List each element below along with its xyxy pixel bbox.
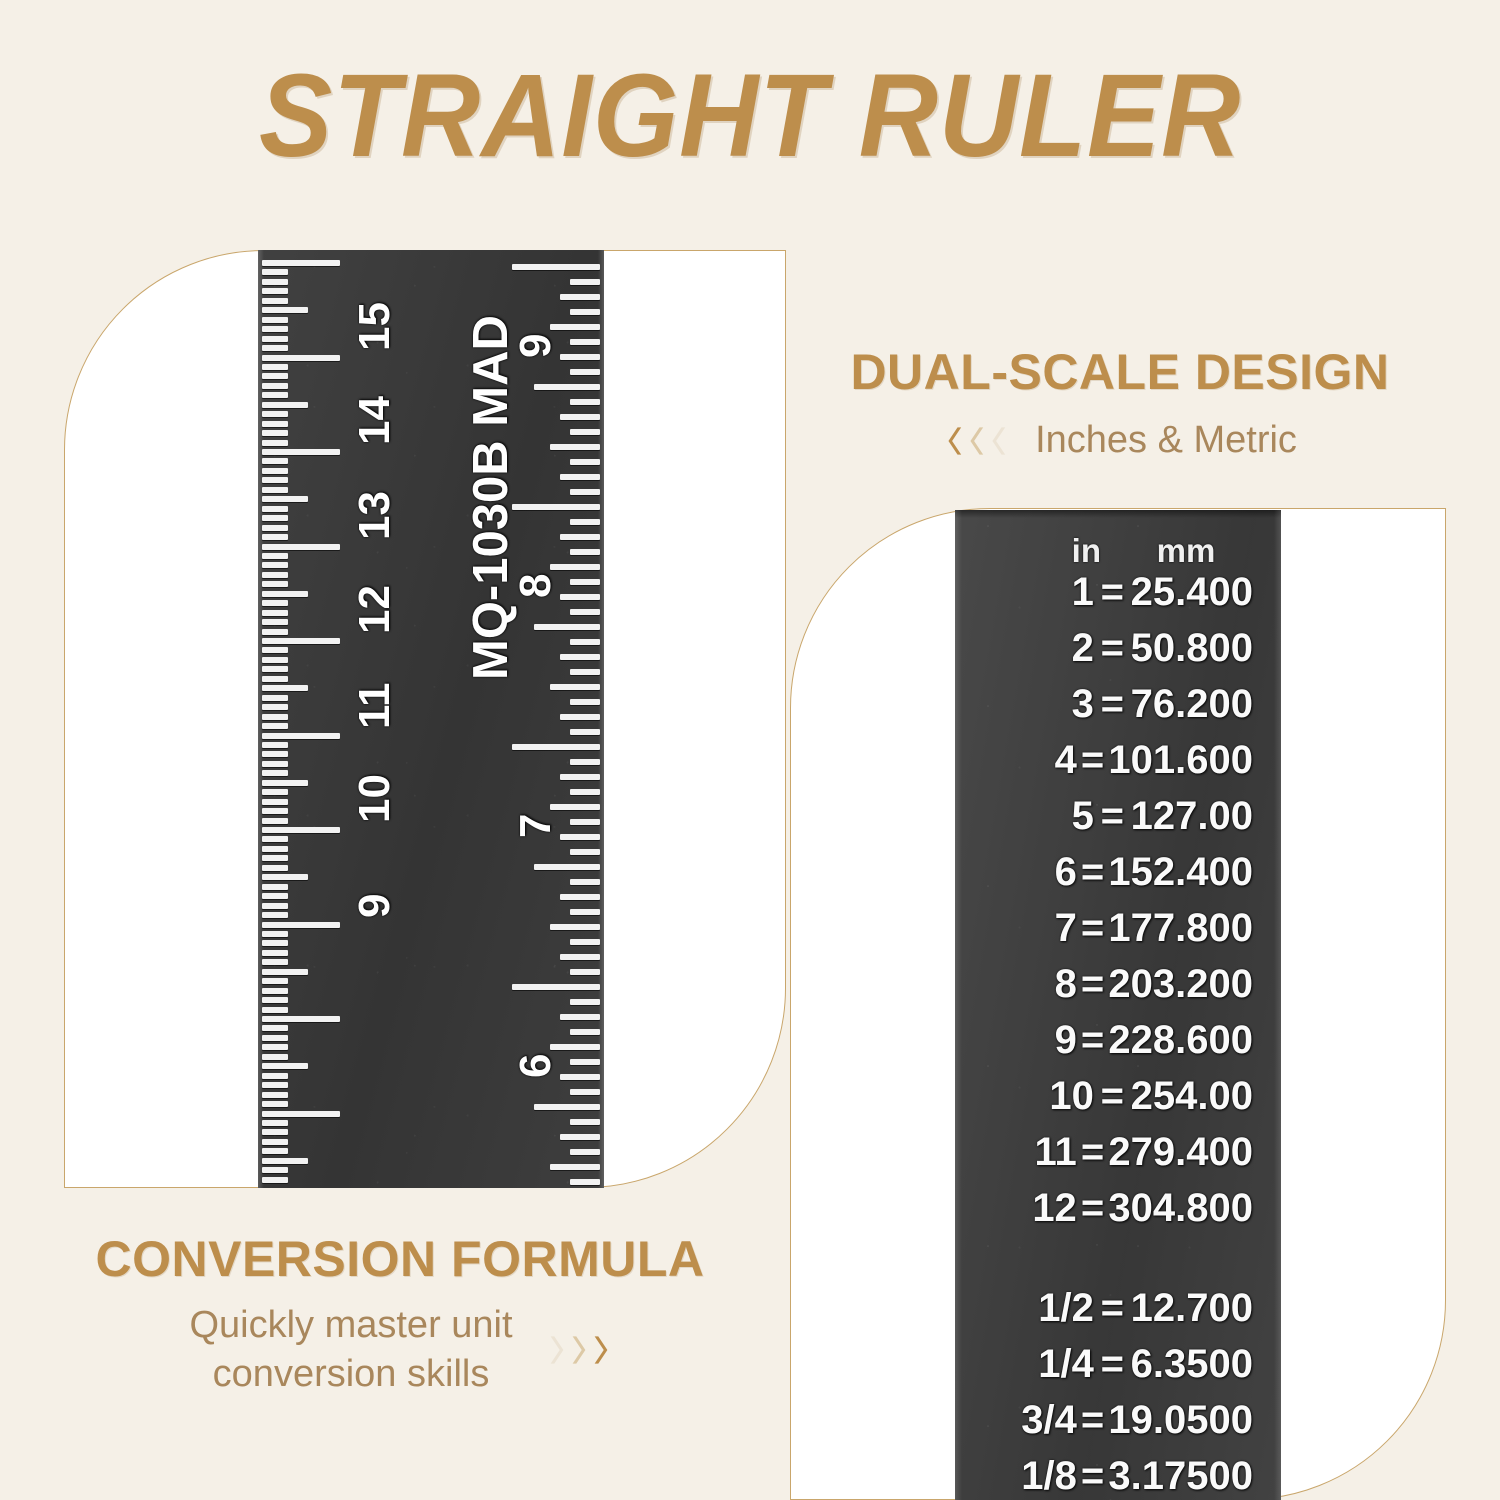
ruler-tick-metric — [262, 733, 340, 739]
table-section-divider — [955, 1242, 1281, 1286]
ruler-tick-inch — [570, 1059, 600, 1065]
table-row: 6=152.400 — [955, 850, 1281, 906]
ruler-tick-inch — [534, 1104, 600, 1110]
ruler-tick-inch — [560, 834, 600, 840]
cell-inches: 1 — [973, 570, 1094, 615]
ruler-tick-inch — [570, 729, 600, 735]
ruler-tick-inch — [570, 309, 600, 315]
ruler-tick-metric — [262, 865, 288, 871]
ruler-tick-inch — [570, 549, 600, 555]
ruler-tick-inch — [560, 594, 600, 600]
ruler-tick-metric — [262, 326, 288, 332]
page-title: STRAIGHT RULER — [259, 55, 1241, 179]
ruler-tick-metric — [262, 553, 288, 559]
ruler-tick-inch — [560, 1014, 600, 1020]
ruler-tick-inch — [550, 684, 600, 690]
ruler-tick-inch — [570, 489, 600, 495]
ruler-tick-metric — [262, 411, 288, 417]
ruler-tick-metric — [262, 704, 288, 710]
table-row: 3/4=19.0500 — [955, 1398, 1281, 1454]
cell-millimeters: 152.400 — [1108, 850, 1271, 895]
cell-inches: 12 — [973, 1186, 1077, 1231]
ruler-tick-inch — [550, 324, 600, 330]
cell-inches: 5 — [973, 794, 1094, 839]
ruler-tick-metric — [262, 1148, 288, 1154]
cell-inches: 3/4 — [973, 1398, 1077, 1443]
ruler-tick-metric — [262, 893, 288, 899]
ruler-tick-metric — [262, 525, 288, 531]
cell-inches: 8 — [973, 962, 1077, 1007]
ruler-tick-inch — [570, 579, 600, 585]
cell-equals: = — [1094, 682, 1131, 727]
ruler-tick-metric — [262, 789, 288, 795]
ruler-tick-metric — [262, 1073, 288, 1079]
ruler-tick-metric — [262, 695, 288, 701]
cell-equals: = — [1094, 1074, 1131, 1119]
ruler-tick-metric — [262, 940, 288, 946]
ruler-tick-inch — [512, 264, 600, 270]
cell-millimeters: 19.0500 — [1108, 1398, 1271, 1443]
ruler-tick-inch — [570, 399, 600, 405]
ruler-tick-metric — [262, 969, 308, 975]
ruler-illustration: 15141312111099876MQ-1030B MAD — [258, 250, 604, 1188]
ruler-tick-metric — [262, 818, 288, 824]
dual-scale-subtitle: Inches & Metric — [1035, 416, 1297, 465]
ruler-tick-metric — [262, 1007, 288, 1013]
cell-equals: = — [1094, 1342, 1131, 1387]
ruler-tick-metric — [262, 373, 288, 379]
cell-inches: 1/8 — [973, 1454, 1077, 1499]
table-row: 12=304.800 — [955, 1186, 1281, 1242]
ruler-tick-inch — [560, 414, 600, 420]
ruler-tick-inch — [570, 1119, 600, 1125]
ruler-tick-inch — [570, 849, 600, 855]
ruler-tick-metric — [262, 544, 340, 550]
conversion-whole-rows: 1=25.4002=50.8003=76.2004=101.6005=127.0… — [955, 570, 1281, 1242]
ruler-tick-metric — [262, 846, 288, 852]
ruler-tick-metric — [262, 959, 288, 965]
ruler-tick-metric — [262, 1016, 340, 1022]
ruler-tick-metric — [262, 723, 288, 729]
cell-inches: 10 — [973, 1074, 1094, 1119]
chevron-left-icon — [987, 424, 1007, 458]
ruler-tick-metric — [262, 647, 288, 653]
feature-dual-scale: DUAL-SCALE DESIGN Inches & Metric — [800, 345, 1440, 465]
ruler-tick-metric — [262, 997, 288, 1003]
ruler-tick-metric — [262, 619, 288, 625]
ruler-tick-inch — [560, 894, 600, 900]
chevron-right-icon — [547, 1333, 567, 1367]
ruler-tick-metric — [262, 751, 288, 757]
ruler-number-metric: 13 — [350, 491, 400, 540]
ruler-tick-metric — [262, 515, 288, 521]
ruler-tick-inch — [512, 504, 600, 510]
ruler-tick-inch — [534, 864, 600, 870]
ruler-tick-inch — [570, 789, 600, 795]
ruler-tick-metric — [262, 392, 288, 398]
cell-millimeters: 177.800 — [1108, 906, 1271, 951]
ruler-tick-metric — [262, 978, 288, 984]
cell-equals: = — [1077, 1186, 1109, 1231]
conversion-table: in mm 1=25.4002=50.8003=76.2004=101.6005… — [955, 510, 1281, 1500]
ruler-tick-metric — [262, 279, 288, 285]
ruler-tick-metric — [262, 1101, 288, 1107]
ruler-tick-metric — [262, 827, 340, 833]
ruler-tick-metric — [262, 799, 288, 805]
ruler-tick-inch — [570, 969, 600, 975]
ruler-tick-metric — [262, 345, 288, 351]
ruler-tick-metric — [262, 449, 340, 455]
table-row: 1/4=6.3500 — [955, 1342, 1281, 1398]
ruler-tick-metric — [262, 317, 288, 323]
ruler-tick-inch — [570, 819, 600, 825]
cell-inches: 4 — [973, 738, 1077, 783]
ruler-tick-metric — [262, 988, 288, 994]
ruler-number-inch: 6 — [511, 1054, 561, 1078]
cell-equals: = — [1094, 1286, 1131, 1331]
cell-inches: 1/4 — [973, 1342, 1094, 1387]
ruler-tick-inch — [560, 654, 600, 660]
table-row: 1=25.400 — [955, 570, 1281, 626]
ruler-tick-inch — [570, 519, 600, 525]
ruler-tick-metric — [262, 269, 288, 275]
ruler-tick-metric — [262, 506, 288, 512]
cell-millimeters: 127.00 — [1131, 794, 1271, 839]
ruler-tick-metric — [262, 912, 288, 918]
cell-millimeters: 50.800 — [1131, 626, 1271, 671]
column-header-in: in — [977, 532, 1109, 570]
ruler-tick-inch — [550, 804, 600, 810]
ruler-tick-metric — [262, 1092, 288, 1098]
ruler-tick-metric — [262, 288, 288, 294]
ruler-tick-metric — [262, 714, 288, 720]
conversion-fraction-rows: 1/2=12.7001/4=6.35003/4=19.05001/8=3.175… — [955, 1286, 1281, 1500]
ruler-tick-metric — [262, 903, 288, 909]
cell-equals: = — [1077, 1130, 1109, 1175]
cell-equals: = — [1077, 962, 1109, 1007]
cell-millimeters: 6.3500 — [1131, 1342, 1271, 1387]
cell-inches: 6 — [973, 850, 1077, 895]
ruler-tick-inch — [570, 279, 600, 285]
ruler-tick-inch — [534, 624, 600, 630]
chevron-right-icon — [591, 1333, 611, 1367]
cell-equals: = — [1077, 1454, 1109, 1499]
column-header-mm: mm — [1109, 532, 1263, 570]
chevron-left-icon-group — [943, 424, 1007, 458]
ruler-tick-inch — [560, 714, 600, 720]
ruler-tick-metric — [262, 487, 288, 493]
ruler-tick-metric — [262, 950, 288, 956]
ruler-tick-inch — [560, 1134, 600, 1140]
ruler-tick-metric — [262, 610, 288, 616]
cell-millimeters: 76.200 — [1131, 682, 1271, 727]
ruler-tick-metric — [262, 676, 288, 682]
ruler-tick-metric — [262, 430, 288, 436]
ruler-tick-metric — [262, 477, 288, 483]
ruler-tick-inch — [570, 609, 600, 615]
chevron-right-icon-group — [547, 1333, 611, 1367]
ruler-tick-inch — [570, 459, 600, 465]
ruler-tick-metric — [262, 591, 308, 597]
cell-equals: = — [1094, 794, 1131, 839]
table-row: 5=127.00 — [955, 794, 1281, 850]
ruler-tick-inch — [570, 999, 600, 1005]
cell-inches: 2 — [973, 626, 1094, 671]
ruler-tick-metric — [262, 931, 288, 937]
cell-equals: = — [1077, 1398, 1109, 1443]
ruler-tick-inch — [550, 1044, 600, 1050]
ruler-tick-metric — [262, 298, 288, 304]
ruler-tick-metric — [262, 562, 288, 568]
cell-inches: 1/2 — [973, 1286, 1094, 1331]
ruler-tick-inch — [512, 984, 600, 990]
cell-equals: = — [1077, 1018, 1109, 1063]
ruler-tick-metric — [262, 638, 340, 644]
ruler-tick-inch — [570, 429, 600, 435]
conversion-subtitle-line2: conversion skills — [213, 1353, 490, 1395]
ruler-tick-inch — [550, 444, 600, 450]
table-row: 10=254.00 — [955, 1074, 1281, 1130]
ruler-tick-metric — [262, 855, 288, 861]
cell-inches: 9 — [973, 1018, 1077, 1063]
table-row: 1/8=3.17500 — [955, 1454, 1281, 1500]
ruler-tick-inch — [570, 369, 600, 375]
cell-millimeters: 3.17500 — [1108, 1454, 1271, 1499]
ruler-number-inch: 7 — [511, 814, 561, 838]
cell-millimeters: 304.800 — [1108, 1186, 1271, 1231]
ruler-tick-inch — [570, 939, 600, 945]
cell-equals: = — [1077, 906, 1109, 951]
ruler-number-metric: 9 — [350, 893, 400, 917]
ruler-tick-metric — [262, 1129, 288, 1135]
ruler-tick-metric — [262, 383, 288, 389]
table-row: 2=50.800 — [955, 626, 1281, 682]
ruler-tick-metric — [262, 534, 288, 540]
ruler-number-metric: 12 — [350, 585, 400, 634]
ruler-tick-metric — [262, 1054, 288, 1060]
ruler-tick-metric — [262, 780, 308, 786]
ruler-tick-metric — [262, 1111, 340, 1117]
ruler-tick-inch — [570, 879, 600, 885]
chevron-right-icon — [569, 1333, 589, 1367]
ruler-tick-metric — [262, 440, 288, 446]
ruler-tick-metric — [262, 307, 308, 313]
ruler-number-metric: 15 — [350, 302, 400, 351]
table-row: 8=203.200 — [955, 962, 1281, 1018]
ruler-tick-metric — [262, 1044, 288, 1050]
ruler-tick-metric — [262, 808, 288, 814]
table-row: 1/2=12.700 — [955, 1286, 1281, 1342]
ruler-tick-metric — [262, 666, 288, 672]
ruler-tick-metric — [262, 685, 308, 691]
cell-millimeters: 279.400 — [1108, 1130, 1271, 1175]
table-row: 11=279.400 — [955, 1130, 1281, 1186]
conversion-table-header: in mm — [955, 532, 1281, 570]
cell-inches: 3 — [973, 682, 1094, 727]
ruler-tick-inch — [560, 294, 600, 300]
ruler-tick-inch — [560, 354, 600, 360]
conversion-subline: Quickly master unit conversion skills — [40, 1301, 760, 1400]
ruler-tick-metric — [262, 1082, 288, 1088]
ruler-tick-metric — [262, 336, 288, 342]
ruler-tick-inch — [560, 534, 600, 540]
cell-equals: = — [1077, 738, 1109, 783]
ruler-tick-metric — [262, 1139, 288, 1145]
ruler-tick-metric — [262, 1120, 288, 1126]
dual-scale-heading: DUAL-SCALE DESIGN — [800, 345, 1440, 400]
ruler-tick-metric — [262, 364, 288, 370]
feature-conversion-formula: CONVERSION FORMULA Quickly master unit c… — [40, 1232, 760, 1400]
ruler-number-metric: 11 — [350, 682, 400, 729]
ruler-tick-metric — [262, 355, 340, 361]
ruler-tick-metric — [262, 629, 288, 635]
ruler-tick-inch — [550, 564, 600, 570]
ruler-tick-metric — [262, 874, 308, 880]
ruler-tick-metric — [262, 600, 288, 606]
ruler-tick-metric — [262, 770, 288, 776]
ruler-tick-inch — [560, 954, 600, 960]
ruler-tick-metric — [262, 657, 288, 663]
ruler-tick-inch — [560, 774, 600, 780]
ruler-tick-metric — [262, 761, 288, 767]
cell-millimeters: 228.600 — [1108, 1018, 1271, 1063]
cell-equals: = — [1094, 570, 1131, 615]
ruler-tick-inch — [570, 759, 600, 765]
ruler-tick-metric — [262, 1158, 308, 1164]
ruler-tick-metric — [262, 1167, 288, 1173]
ruler-tick-metric — [262, 581, 288, 587]
ruler-tick-inch — [570, 639, 600, 645]
dual-scale-subline: Inches & Metric — [800, 416, 1440, 465]
ruler-tick-inch — [570, 699, 600, 705]
ruler-tick-metric — [262, 1025, 288, 1031]
ruler-tick-inch — [550, 1164, 600, 1170]
ruler-number-metric: 14 — [350, 396, 400, 445]
conversion-heading: CONVERSION FORMULA — [40, 1232, 760, 1287]
ruler-tick-metric — [262, 458, 288, 464]
page-header: STRAIGHT RULER — [0, 55, 1500, 179]
cell-equals: = — [1094, 626, 1131, 671]
ruler-tick-inch — [570, 669, 600, 675]
table-row: 9=228.600 — [955, 1018, 1281, 1074]
ruler-tick-inch — [534, 384, 600, 390]
ruler-tick-inch — [512, 744, 600, 750]
chevron-left-icon — [965, 424, 985, 458]
table-row: 7=177.800 — [955, 906, 1281, 962]
ruler-model-text: MQ-1030B MAD — [463, 315, 519, 680]
cell-millimeters: 254.00 — [1131, 1074, 1271, 1119]
conversion-subtitle-line1: Quickly master unit — [189, 1304, 512, 1346]
conversion-plate: in mm 1=25.4002=50.8003=76.2004=101.6005… — [955, 510, 1281, 1500]
ruler-tick-metric — [262, 1063, 308, 1069]
cell-inches: 11 — [973, 1130, 1077, 1175]
ruler-tick-inch — [570, 1089, 600, 1095]
ruler-tick-inch — [550, 924, 600, 930]
ruler-tick-metric — [262, 572, 288, 578]
ruler-tick-inch — [560, 1074, 600, 1080]
cell-millimeters: 203.200 — [1108, 962, 1271, 1007]
ruler-tick-metric — [262, 468, 288, 474]
cell-millimeters: 12.700 — [1131, 1286, 1271, 1331]
ruler-tick-metric — [262, 1035, 288, 1041]
ruler-tick-inch — [570, 909, 600, 915]
cell-equals: = — [1077, 850, 1109, 895]
ruler-tick-inch — [570, 339, 600, 345]
ruler-tick-metric — [262, 402, 308, 408]
chevron-left-icon — [943, 424, 963, 458]
table-row: 3=76.200 — [955, 682, 1281, 738]
ruler-tick-inch — [560, 474, 600, 480]
ruler-tick-metric — [262, 884, 288, 890]
ruler-tick-metric — [262, 742, 288, 748]
table-row: 4=101.600 — [955, 738, 1281, 794]
cell-inches: 7 — [973, 906, 1077, 951]
ruler-tick-metric — [262, 1177, 288, 1183]
ruler-tick-inch — [570, 1149, 600, 1155]
ruler-tick-metric — [262, 496, 308, 502]
ruler-tick-inch — [570, 1179, 600, 1185]
ruler-tick-metric — [262, 421, 288, 427]
ruler-number-metric: 10 — [350, 774, 400, 823]
cell-millimeters: 25.400 — [1131, 570, 1271, 615]
cell-millimeters: 101.600 — [1108, 738, 1271, 783]
ruler-tick-inch — [570, 1029, 600, 1035]
ruler-tick-metric — [262, 836, 288, 842]
conversion-subtitle: Quickly master unit conversion skills — [189, 1301, 512, 1400]
ruler-tick-metric — [262, 922, 340, 928]
ruler-tick-metric — [262, 260, 340, 266]
